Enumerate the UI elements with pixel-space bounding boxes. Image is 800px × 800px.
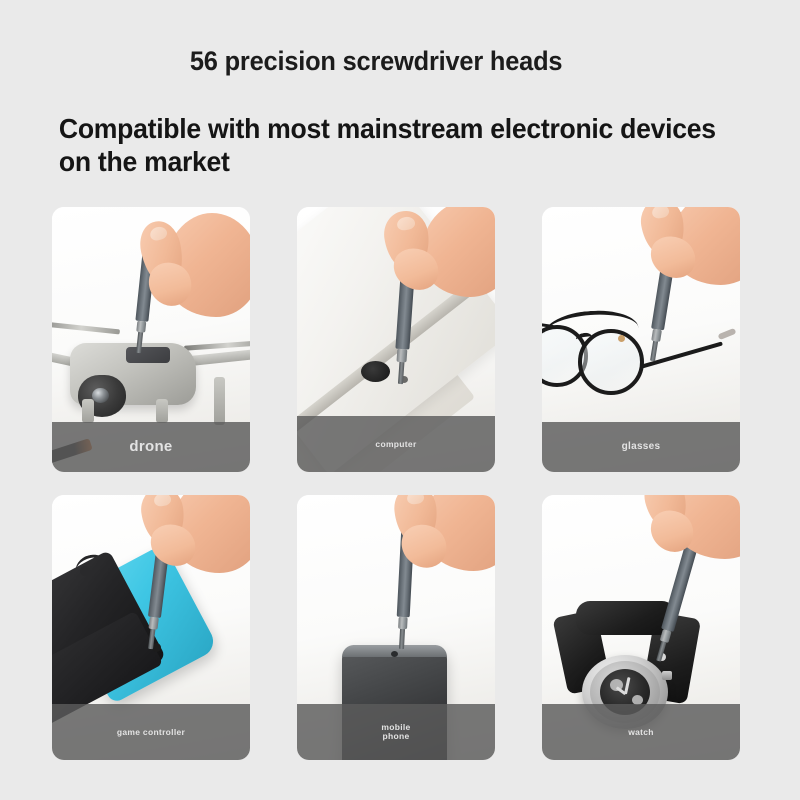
screwdriver-tip — [399, 629, 405, 649]
card-label-drone: drone — [129, 439, 172, 455]
screwdriver-tip — [136, 332, 143, 353]
deli-logo-text: deli — [145, 256, 153, 270]
device-card-computer[interactable]: deli computer — [297, 207, 495, 472]
deli-logo-text: deli — [668, 237, 677, 252]
screwdriver-tip — [148, 629, 155, 649]
card-label-mobile-phone: mobile phone — [381, 723, 410, 741]
card-label-computer: computer — [375, 440, 416, 449]
deli-logo-text: deli — [694, 517, 704, 532]
screwdriver-collar — [148, 617, 158, 630]
card-label-band: drone — [52, 422, 250, 472]
card-label-game-controller: game controller — [117, 728, 185, 737]
page-title: 56 precision screwdriver heads — [0, 46, 752, 78]
deli-logo-text: deli — [406, 512, 414, 526]
watch-crown — [662, 671, 672, 680]
deli-logo-text: deli — [406, 250, 414, 264]
deli-logo-text: deli — [163, 518, 172, 532]
card-label-band: mobile phone — [297, 704, 495, 760]
card-label-band: computer — [297, 416, 495, 472]
card-label-glasses: glasses — [622, 442, 661, 453]
card-label-band: watch — [542, 704, 740, 760]
device-card-watch[interactable]: deli watch — [542, 495, 740, 760]
screwdriver-tip — [656, 641, 666, 662]
screwdriver-tip — [650, 341, 658, 362]
device-card-mobile-phone[interactable]: deli mobile phone — [297, 495, 495, 760]
screwdriver-collar — [396, 349, 407, 363]
device-card-glasses[interactable]: deli glasses — [542, 207, 740, 472]
device-card-drone[interactable]: deli drone — [52, 207, 250, 472]
screwdriver-tip — [398, 362, 405, 384]
device-card-grid: deli drone — [52, 207, 752, 760]
drone-camera-lens — [92, 388, 109, 403]
screwdriver-collar — [136, 321, 146, 333]
device-card-game-controller[interactable]: deli game controller — [52, 495, 250, 760]
card-label-band: game controller — [52, 704, 250, 760]
drone-leg-right — [156, 399, 168, 423]
phone-screw-hole — [391, 651, 398, 657]
drone-leg-left — [82, 399, 94, 423]
card-label-band: glasses — [542, 422, 740, 472]
card-label-watch: watch — [628, 728, 654, 737]
laptop-rubber-foot — [361, 361, 390, 382]
glasses-hinge-screw — [618, 335, 625, 342]
drone-leg-rear — [214, 377, 225, 425]
console-button — [80, 566, 90, 576]
page-subtitle: Compatible with most mainstream electron… — [0, 112, 760, 178]
screwdriver-collar — [398, 617, 408, 629]
headings-block: 56 precision screwdriver heads Compatibl… — [0, 0, 800, 178]
